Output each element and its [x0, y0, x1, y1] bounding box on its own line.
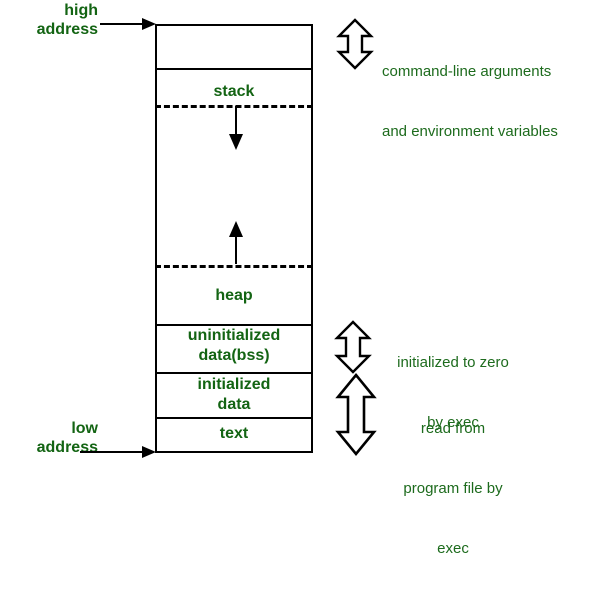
note-command-line-arguments: command-line arguments and environment v…	[382, 22, 558, 182]
divider-args-stack	[155, 68, 313, 70]
dashed-divider-heap-top	[155, 265, 313, 268]
note-args-line2: and environment variables	[382, 122, 558, 142]
low-address-label: low address	[0, 419, 98, 457]
note-text-line1: read from	[373, 419, 533, 439]
segment-label-heap: heap	[155, 286, 313, 306]
note-bss-line1: initialized to zero	[373, 353, 533, 373]
segment-label-bss-line2: data(bss)	[155, 346, 313, 366]
segment-label-initialized-line2: data	[155, 395, 313, 415]
double-headed-vertical-arrow-icon-bss	[337, 322, 369, 372]
segment-label-text: text	[155, 424, 313, 444]
segment-label-initialized-line1: initialized	[155, 375, 313, 395]
memory-layout-diagram: high address low address stack heap unin…	[0, 0, 606, 463]
high-address-label: high address	[0, 1, 98, 39]
divider-bss-initialized	[155, 372, 313, 374]
dashed-divider-stack-bottom	[155, 105, 313, 108]
note-text-line3: exec	[373, 539, 533, 559]
divider-initialized-text	[155, 417, 313, 419]
note-text-line2: program file by	[373, 479, 533, 499]
arrow-right-icon-high-address	[100, 18, 156, 30]
segment-label-stack: stack	[155, 82, 313, 102]
double-headed-vertical-arrow-icon-args	[339, 20, 371, 68]
note-read-from-program-file: read from program file by exec	[373, 379, 533, 599]
note-args-line1: command-line arguments	[382, 62, 558, 82]
segment-label-bss-line1: uninitialized	[155, 326, 313, 346]
double-headed-vertical-arrow-icon-text	[338, 375, 374, 454]
